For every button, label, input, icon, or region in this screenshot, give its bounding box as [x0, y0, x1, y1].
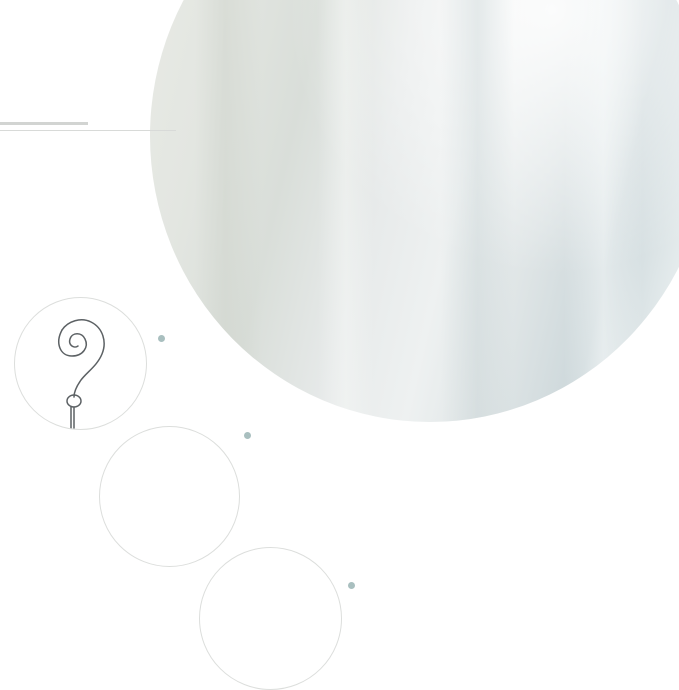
silver-note-hook-icon	[14, 297, 147, 430]
feature-text-block	[244, 432, 261, 444]
title-divider-thin	[0, 130, 176, 131]
hero-product-photo	[150, 0, 679, 422]
feature-heading-row	[158, 335, 174, 342]
product-detail-page	[0, 0, 679, 679]
hero-background-band	[195, 0, 262, 422]
bullet-dot-icon	[244, 432, 251, 439]
crystal-ball-drawing	[200, 548, 341, 689]
hero-background-band	[318, 0, 374, 422]
title-divider-thick	[0, 122, 88, 125]
feature-heading-row	[244, 432, 261, 439]
feature-text-block	[348, 582, 365, 594]
bullet-dot-icon	[158, 335, 165, 342]
bullet-dot-icon	[348, 582, 355, 589]
hero-background-band	[564, 0, 642, 422]
hero-background-band	[441, 0, 514, 422]
feature-heading-row	[348, 582, 365, 589]
beads-chain-drawing	[100, 427, 239, 566]
premium-crystals-prisms-icon	[199, 547, 342, 690]
colorful-beads-chain-icon	[99, 426, 240, 567]
feature-text-block	[158, 335, 174, 347]
hook-drawing	[15, 298, 146, 429]
